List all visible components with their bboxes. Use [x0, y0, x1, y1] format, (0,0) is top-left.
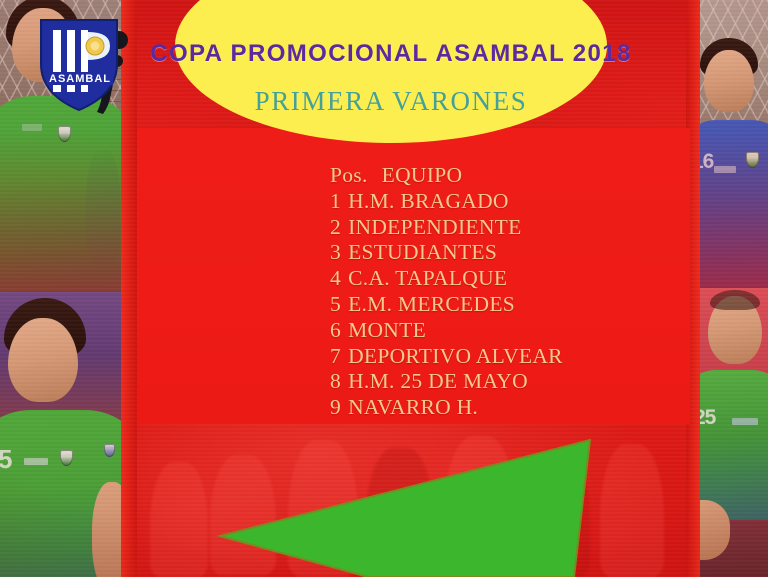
row-team: H.M. 25 DE MAYO — [348, 369, 528, 393]
standings-row: 1H.M. BRAGADO — [330, 189, 563, 215]
row-position: 9 — [330, 395, 341, 419]
background-ghost-figure — [366, 448, 434, 577]
standings-row: 3ESTUDIANTES — [330, 240, 563, 266]
row-position: 6 — [330, 318, 341, 342]
row-team: ESTUDIANTES — [348, 240, 497, 264]
standings-row: 8H.M. 25 DE MAYO — [330, 369, 563, 395]
row-team: H.M. BRAGADO — [348, 189, 509, 213]
photo-player-top-right: 16 — [688, 0, 768, 288]
row-position: 1 — [330, 189, 341, 213]
standings-row: 4C.A. TAPALQUE — [330, 266, 563, 292]
row-position: 2 — [330, 215, 341, 239]
logo-wordmark: ASAMBAL — [49, 73, 111, 85]
background-ghost-figure — [150, 462, 208, 577]
row-team: DEPORTIVO ALVEAR — [348, 344, 563, 368]
background-ghost-figure — [444, 436, 516, 577]
row-position: 3 — [330, 240, 341, 264]
row-team: MONTE — [348, 318, 426, 342]
standings-row: 5E.M. MERCEDES — [330, 292, 563, 318]
row-team: C.A. TAPALQUE — [348, 266, 507, 290]
photo-player-bottom-left: 5 — [0, 292, 137, 577]
poster-canvas: 5 16 — [0, 0, 768, 577]
background-ghost-figure — [210, 455, 276, 575]
photo-strip-right: 16 25 — [688, 0, 768, 577]
row-team: E.M. MERCEDES — [348, 292, 515, 316]
standings-row: 6MONTE — [330, 318, 563, 344]
column-header-pos: Pos. — [330, 163, 368, 187]
standings-row: 2INDEPENDIENTE — [330, 215, 563, 241]
background-ghost-figure — [524, 450, 590, 577]
page-title: COPA PROMOCIONAL ASAMBAL 2018 — [150, 40, 632, 68]
photo-player-bottom-right: 25 — [688, 288, 768, 577]
background-ghost-figure — [288, 440, 358, 577]
row-team: INDEPENDIENTE — [348, 215, 521, 239]
background-ghost-figure — [600, 444, 664, 577]
standings-row: 7DEPORTIVO ALVEAR — [330, 344, 563, 370]
asambal-logo: ASAMBAL — [33, 6, 129, 116]
standings-row: 9NAVARRO H. — [330, 395, 563, 421]
standings-list: Pos.EQUIPO 1H.M. BRAGADO 2INDEPENDIENTE … — [330, 163, 563, 421]
row-position: 5 — [330, 292, 341, 316]
row-position: 4 — [330, 266, 341, 290]
page-subtitle: PRIMERA VARONES — [255, 86, 528, 117]
row-position: 8 — [330, 369, 341, 393]
standings-header: Pos.EQUIPO — [330, 163, 563, 189]
row-position: 7 — [330, 344, 341, 368]
column-header-team: EQUIPO — [382, 163, 463, 187]
row-team: NAVARRO H. — [348, 395, 478, 419]
